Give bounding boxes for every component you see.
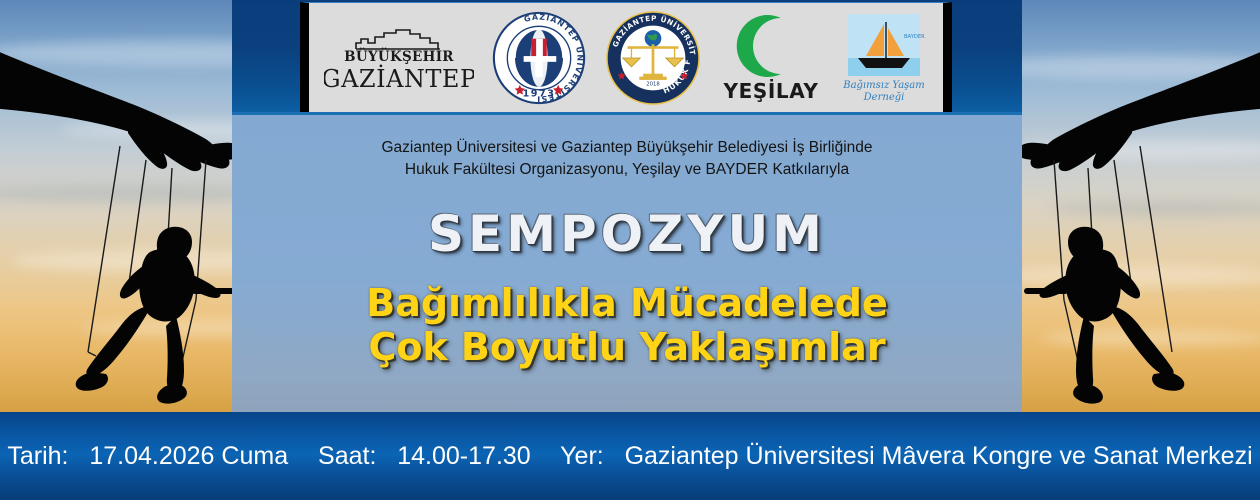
logo-hukuk-year: 2018 (646, 81, 659, 87)
crescent-icon (737, 15, 781, 77)
logo-yesilay: YEŞİLAY (719, 12, 823, 104)
subheading-line-1: Gaziantep Üniversitesi ve Gaziantep Büyü… (232, 137, 1022, 159)
marionette-artwork-right (1010, 0, 1260, 420)
svg-text:BAYDER: BAYDER (904, 34, 925, 40)
logo-bayder: BAYDER Bağımsız Yaşam Derneği (840, 12, 928, 104)
logo-bar: BÜYÜKŞEHİR GAZİANTEP GAZIANTEP ÜNİVERSİT… (300, 2, 952, 112)
footer-details: Tarih: 17.04.2026 Cuma Saat: 14.00-17.30… (7, 442, 1252, 471)
time-label: Saat: (318, 442, 376, 470)
center-panel: BÜYÜKŞEHİR GAZİANTEP GAZIANTEP ÜNİVERSİT… (232, 0, 1022, 412)
date-label: Tarih: (7, 442, 68, 470)
logo-bayder-line1: Bağımsız Yaşam (843, 80, 926, 91)
symposium-title-line-2: Çok Boyutlu Yaklaşımlar (232, 325, 1022, 369)
place-label: Yer: (560, 442, 604, 470)
event-poster: BÜYÜKŞEHİR GAZİANTEP GAZIANTEP ÜNİVERSİT… (0, 0, 1260, 500)
logo-bayder-line2: Derneği (863, 92, 905, 103)
date-value: 17.04.2026 Cuma (89, 442, 288, 470)
panel-body: Gaziantep Üniversitesi ve Gaziantep Büyü… (232, 115, 1022, 412)
logo-hukuk-fakultesi: GAZİANTEP ÜNİVERSİTESİ HUKUK FAKÜLTESİ (604, 9, 702, 107)
logo-gaziantep-buyuksehir: BÜYÜKŞEHİR GAZİANTEP (324, 19, 474, 97)
footer-bar: Tarih: 17.04.2026 Cuma Saat: 14.00-17.30… (0, 412, 1260, 500)
logo-band: BÜYÜKŞEHİR GAZİANTEP GAZIANTEP ÜNİVERSİT… (232, 0, 1022, 115)
symposium-title-line-1: Bağımlılıkla Mücadelede (232, 281, 1022, 325)
time-value: 14.00-17.30 (397, 442, 530, 470)
symposium-title: Bağımlılıkla Mücadelede Çok Boyutlu Yakl… (232, 281, 1022, 369)
subheading-line-2: Hukuk Fakültesi Organizasyonu, Yeşilay v… (232, 159, 1022, 181)
logo-buyuksehir-line1: BÜYÜKŞEHİR (344, 48, 454, 65)
marionette-artwork-left (0, 0, 250, 420)
place-value: Gaziantep Üniversitesi Mâvera Kongre ve … (625, 442, 1253, 470)
logo-yesilay-label: YEŞİLAY (723, 79, 819, 103)
logo-gaziantep-universitesi: GAZIANTEP ÜNİVERSİTESİ (491, 10, 587, 106)
subheading: Gaziantep Üniversitesi ve Gaziantep Büyü… (232, 137, 1022, 181)
event-type-title: SEMPOZYUM (232, 205, 1022, 263)
logo-gau-year: 1973 (522, 88, 555, 99)
logo-buyuksehir-line2: GAZİANTEP (324, 64, 474, 93)
